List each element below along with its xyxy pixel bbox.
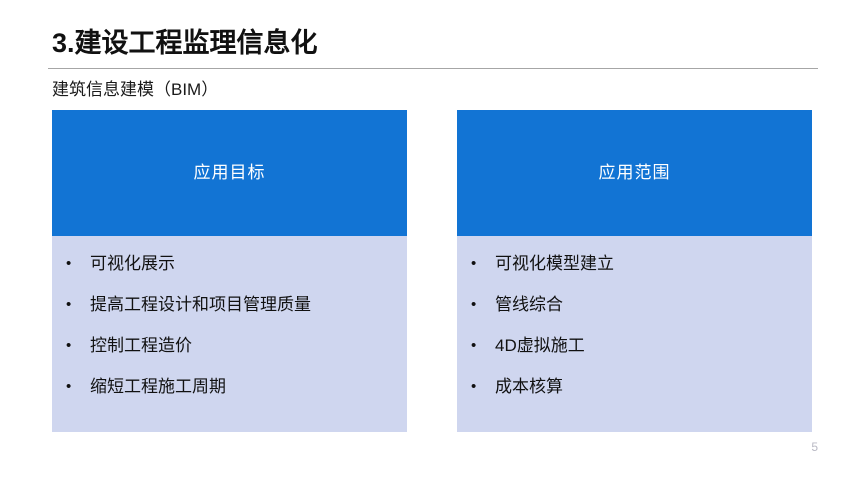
list-item: 成本核算 xyxy=(469,371,802,403)
list-item: 控制工程造价 xyxy=(64,330,397,362)
bullet-list-left: 可视化展示 提高工程设计和项目管理质量 控制工程造价 缩短工程施工周期 xyxy=(64,248,397,403)
panel-body-right: 可视化模型建立 管线综合 4D虚拟施工 成本核算 xyxy=(457,236,812,432)
list-item: 4D虚拟施工 xyxy=(469,330,802,362)
slide-canvas: 3.建设工程监理信息化 建筑信息建模（BIM） 应用目标 可视化展示 提高工程设… xyxy=(0,0,864,486)
bullet-list-right: 可视化模型建立 管线综合 4D虚拟施工 成本核算 xyxy=(469,248,802,403)
panel-header-left-label: 应用目标 xyxy=(194,162,266,184)
list-item: 可视化模型建立 xyxy=(469,248,802,280)
list-item: 管线综合 xyxy=(469,289,802,321)
list-item: 可视化展示 xyxy=(64,248,397,280)
panel-header-left: 应用目标 xyxy=(52,110,407,236)
page-number: 5 xyxy=(811,440,818,454)
panel-header-right-label: 应用范围 xyxy=(599,162,671,184)
page-subtitle: 建筑信息建模（BIM） xyxy=(52,78,218,102)
panel-header-right: 应用范围 xyxy=(457,110,812,236)
list-item: 提高工程设计和项目管理质量 xyxy=(64,289,397,321)
page-title: 3.建设工程监理信息化 xyxy=(52,26,318,60)
title-divider xyxy=(48,68,818,69)
panel-application-scope: 应用范围 可视化模型建立 管线综合 4D虚拟施工 成本核算 xyxy=(457,110,812,432)
list-item: 缩短工程施工周期 xyxy=(64,371,397,403)
panel-application-goals: 应用目标 可视化展示 提高工程设计和项目管理质量 控制工程造价 缩短工程施工周期 xyxy=(52,110,407,432)
panel-body-left: 可视化展示 提高工程设计和项目管理质量 控制工程造价 缩短工程施工周期 xyxy=(52,236,407,432)
